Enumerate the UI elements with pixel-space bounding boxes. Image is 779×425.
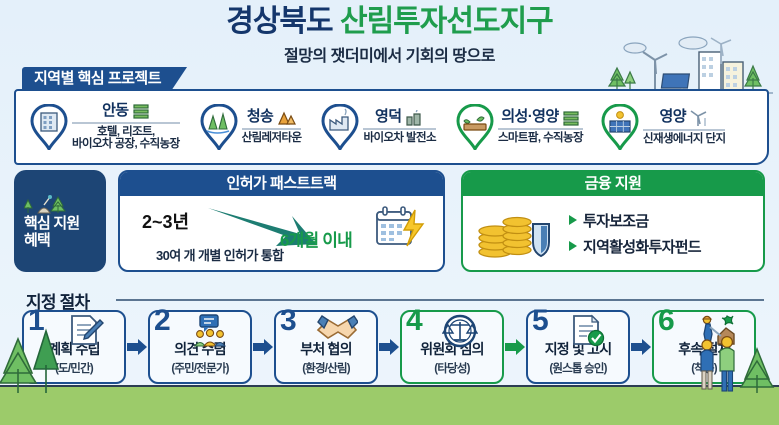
vertical-farm-icon <box>132 103 150 119</box>
finance-item-label: 지역활성화투자펀드 <box>583 236 701 257</box>
project-name: 의성·영양 <box>501 109 558 126</box>
project-item: 영덕 바이오차 발전소 <box>319 104 437 150</box>
process-step: 4 위원회 심의 (타당성) <box>400 310 504 384</box>
project-item: 안동 호텔, 리조트, 바이오차 공장, 수직농장 <box>16 103 182 151</box>
people-tree-icon <box>691 333 777 399</box>
solar-panel-pin-icon <box>601 104 639 150</box>
infographic-page: 경상북도 산림투자선도지구 절망의 잿더미에서 기회의 땅으로 <box>0 0 779 425</box>
step-subtitle: (타당성) <box>434 360 469 376</box>
project-name: 안동 <box>102 103 128 120</box>
project-desc: 산림레저타운 <box>242 132 302 145</box>
project-desc: 바이오차 발전소 <box>363 132 435 145</box>
step-number: 5 <box>532 306 549 336</box>
divider <box>363 128 435 130</box>
list-item: 지역활성화투자펀드 <box>569 236 701 257</box>
factory-pin-icon <box>321 104 359 150</box>
divider <box>498 128 583 130</box>
step-subtitle: (환경/산림) <box>302 360 350 376</box>
forest-excavator-icon <box>24 193 76 215</box>
calendar-lightning-icon <box>373 204 429 250</box>
step-arrow <box>252 338 274 356</box>
process-step: 3 부처 협의 (환경/산림) <box>274 310 378 384</box>
scales-badge-icon <box>442 314 478 348</box>
step-subtitle: (원스톱 승인) <box>549 360 606 376</box>
fast-track-note: 30여 개 개별 인허가 통합 <box>156 245 284 264</box>
process-step: 2 의견 수렴 (주민/전문가) <box>148 310 252 384</box>
process-steps: 1 계획 수립 (도/민간) 2 의견 수렴 (주민/전문가) <box>22 308 764 386</box>
step-subtitle: (주민/전문가) <box>171 360 228 376</box>
finance-body: 투자보조금 지역활성화투자펀드 <box>463 196 763 270</box>
fast-track-title: 인허가 패스트트랙 <box>120 172 443 196</box>
document-check-icon <box>568 314 606 348</box>
divider <box>116 299 764 301</box>
core-benefit-badge: 핵심 지원 혜택 <box>14 170 106 272</box>
finance-items: 투자보조금 지역활성화투자펀드 <box>569 205 701 262</box>
core-badge-line1: 핵심 지원 <box>24 215 106 232</box>
divider <box>72 122 180 124</box>
title-part-2: 산림투자선도지구 <box>340 5 553 38</box>
step-number: 2 <box>154 306 171 336</box>
bullet-triangle-icon <box>569 215 577 225</box>
project-name: 영덕 <box>375 109 401 126</box>
projects-panel: 안동 호텔, 리조트, 바이오차 공장, 수직농장 <box>14 89 769 165</box>
camping-icon <box>276 110 296 126</box>
step-number: 4 <box>406 306 423 336</box>
divider <box>643 129 725 131</box>
fast-track-panel: 인허가 패스트트랙 2~3년 6개월 이내 30여 개 개별 인허가 통합 <box>118 170 445 272</box>
fast-track-after: 6개월 이내 <box>280 226 352 251</box>
finance-item-label: 투자보조금 <box>583 210 649 231</box>
project-item: 청송 산림레저타운 <box>198 104 304 150</box>
eco-city-skyline-icon <box>597 34 773 96</box>
finance-title: 금융 지원 <box>463 172 763 196</box>
document-pencil-icon <box>64 314 104 348</box>
building-pin-icon <box>30 104 68 150</box>
project-desc: 스마트팜, 수직농장 <box>498 132 583 145</box>
list-item: 투자보조금 <box>569 210 701 231</box>
forest-pin-icon <box>200 104 238 150</box>
page-title: 경상북도 산림투자선도지구 <box>0 6 779 38</box>
step-arrow <box>504 338 526 356</box>
handshake-icon <box>316 314 358 346</box>
power-plant-icon <box>404 110 424 126</box>
vertical-farm-icon <box>562 110 580 126</box>
fast-track-before: 2~3년 <box>142 208 189 234</box>
title-part-1: 경상북도 <box>226 5 332 38</box>
process-step: 5 지정 및 고시 (원스톱 승인) <box>526 310 630 384</box>
project-desc: 호텔, 리조트, 바이오차 공장, 수직농장 <box>72 126 180 151</box>
divider <box>242 128 302 130</box>
project-name: 청송 <box>247 109 273 126</box>
fast-track-body: 2~3년 6개월 이내 30여 개 개별 인허가 통합 <box>120 196 443 270</box>
wind-turbine-icon <box>689 109 709 127</box>
step-arrow <box>126 338 148 356</box>
projects-tab-label: 지역별 핵심 프로젝트 <box>22 67 187 91</box>
sprout-pin-icon <box>456 104 494 150</box>
project-item: 의성·영양 스마트팜, 수직농장 <box>454 104 585 150</box>
project-item: 영양 신재생에너지 단지 <box>599 104 727 150</box>
core-badge-line2: 혜택 <box>24 232 106 249</box>
step-arrow <box>630 338 652 356</box>
step-number: 6 <box>658 306 675 336</box>
finance-panel: 금융 지원 투자보조금 <box>461 170 765 272</box>
bullet-triangle-icon <box>569 241 577 251</box>
trees-icon <box>0 309 70 395</box>
step-number: 3 <box>280 306 297 336</box>
project-desc: 신재생에너지 단지 <box>643 133 725 146</box>
coins-shield-icon <box>471 202 557 264</box>
step-arrow <box>378 338 400 356</box>
project-name: 영양 <box>660 109 686 126</box>
people-chat-icon <box>190 314 230 348</box>
ground-strip <box>0 385 779 425</box>
benefits-section: 핵심 지원 혜택 인허가 패스트트랙 2~3년 6개월 이내 <box>14 170 765 272</box>
